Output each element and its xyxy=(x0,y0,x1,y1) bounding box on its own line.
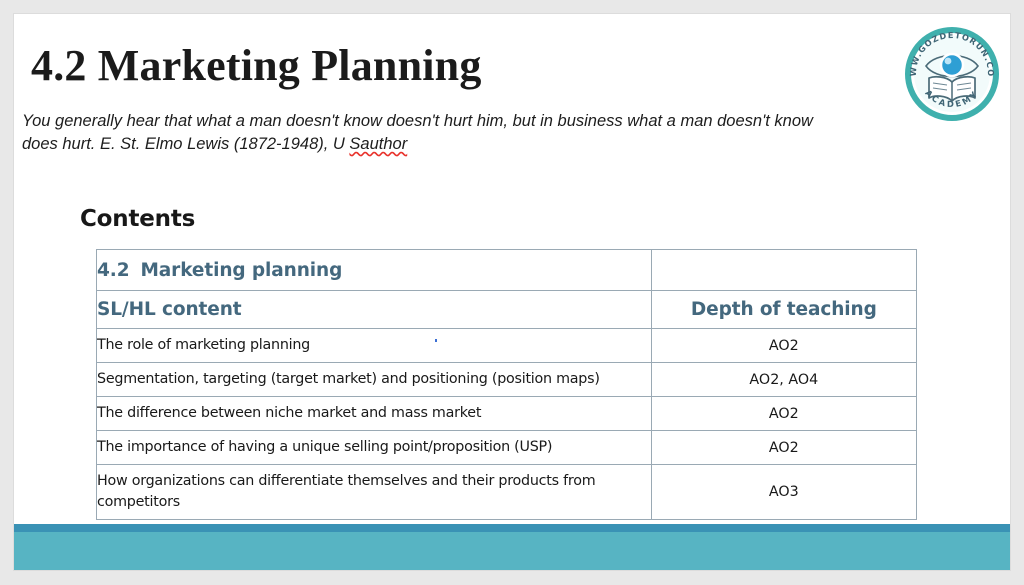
footer-bar-dark xyxy=(14,524,1010,532)
quote-text: You generally hear that what a man doesn… xyxy=(22,112,813,153)
row-content-cell: The importance of having a unique sellin… xyxy=(97,431,652,465)
table-title-cell: 4.2Marketing planning xyxy=(97,250,652,291)
row-content-cell: The difference between niche market and … xyxy=(97,397,652,431)
row-content-text: The difference between niche market and … xyxy=(97,405,481,421)
table-title-right-cell xyxy=(651,250,916,291)
row-content-text: The role of marketing planning xyxy=(97,337,310,353)
row-depth-cell: AO3 xyxy=(651,465,916,520)
row-depth-cell: AO2 xyxy=(651,431,916,465)
row-depth-cell: AO2 xyxy=(651,329,916,363)
row-depth-text: AO2 xyxy=(769,406,799,422)
row-depth-text: AO3 xyxy=(769,484,799,500)
slide-title: 4.2 Marketing Planning xyxy=(31,40,482,92)
contents-heading: Contents xyxy=(80,206,195,232)
row-depth-text: AO2 xyxy=(769,440,799,456)
column-header-depth-label: Depth of teaching xyxy=(691,299,877,320)
row-content-cell: Segmentation, targeting (target market) … xyxy=(97,363,652,397)
row-content-cell: How organizations can differentiate them… xyxy=(97,465,652,520)
table-row: The role of marketing planning AO2 xyxy=(97,329,917,363)
row-content-cell: The role of marketing planning xyxy=(97,329,652,363)
row-content-text: The importance of having a unique sellin… xyxy=(97,439,552,455)
table-section-label: Marketing planning xyxy=(140,260,342,281)
slide-quote: You generally hear that what a man doesn… xyxy=(22,110,842,156)
row-depth-text: AO2, AO4 xyxy=(749,372,818,388)
contents-table: 4.2Marketing planning SL/HL content Dept… xyxy=(96,249,917,520)
row-depth-cell: AO2 xyxy=(651,397,916,431)
academy-logo: WWW.GOZDETORUN.COM ACADEMY xyxy=(900,22,1004,126)
table-title-row: 4.2Marketing planning xyxy=(97,250,917,291)
row-depth-text: AO2 xyxy=(769,338,799,354)
column-header-content-label: SL/HL content xyxy=(97,299,242,320)
presentation-slide: 4.2 Marketing Planning You generally hea… xyxy=(14,14,1010,570)
column-header-content: SL/HL content xyxy=(97,291,652,329)
table-row: Segmentation, targeting (target market) … xyxy=(97,363,917,397)
table-row: How organizations can differentiate them… xyxy=(97,465,917,520)
row-depth-cell: AO2, AO4 xyxy=(651,363,916,397)
row-content-text: Segmentation, targeting (target market) … xyxy=(97,371,600,387)
table-row: The importance of having a unique sellin… xyxy=(97,431,917,465)
stray-mark xyxy=(435,339,437,342)
column-header-depth: Depth of teaching xyxy=(651,291,916,329)
table-section-number: 4.2 xyxy=(97,260,129,281)
misspelled-word: Sauthor xyxy=(349,135,407,153)
table-row: The difference between niche market and … xyxy=(97,397,917,431)
table-header-row: SL/HL content Depth of teaching xyxy=(97,291,917,329)
footer-bar-light xyxy=(14,532,1010,570)
row-content-text: How organizations can differentiate them… xyxy=(97,473,595,510)
